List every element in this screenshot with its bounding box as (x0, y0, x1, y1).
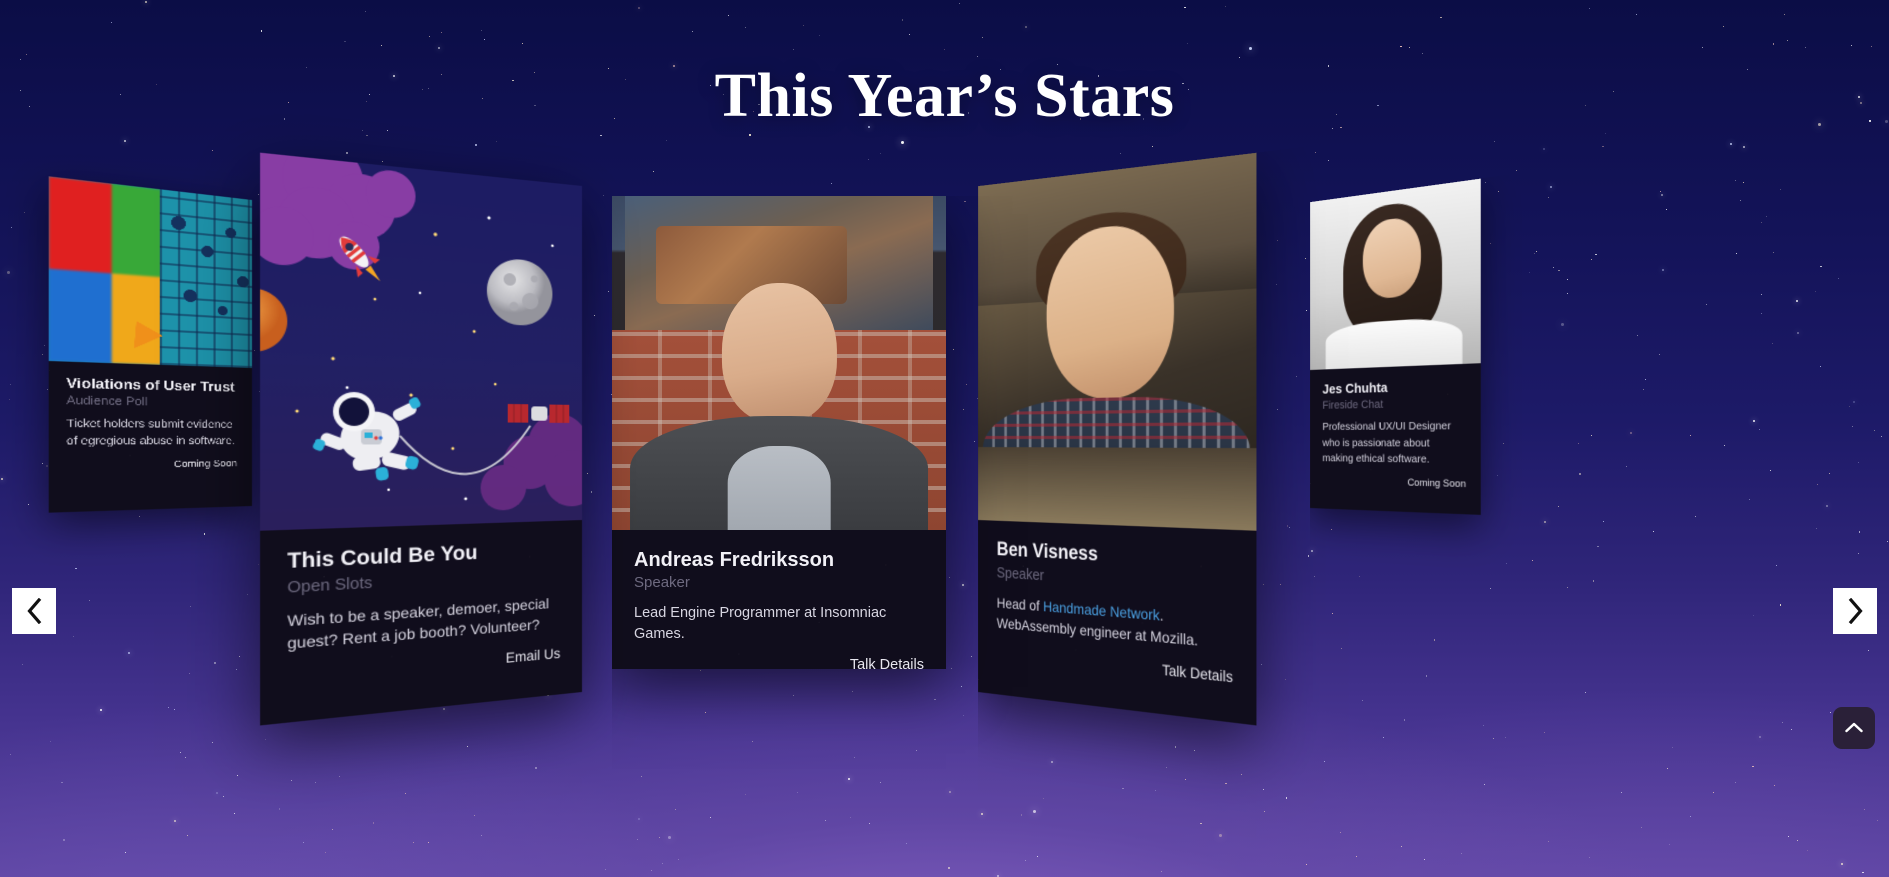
card-description-prefix: Head of (997, 594, 1043, 614)
chevron-up-icon (1845, 721, 1863, 736)
card-body: Jes Chuhta Fireside Chat Professional UX… (1310, 363, 1481, 502)
card-title: Violations of User Trust (66, 375, 237, 396)
card-role: Audience Poll (66, 394, 237, 411)
scroll-to-top-button[interactable] (1833, 707, 1875, 749)
card-description: Lead Engine Programmer at Insomniac Game… (634, 603, 924, 645)
card-media-collage-social-icons-image (49, 176, 252, 368)
carousel-card-ben-visness[interactable]: Ben Visness Speaker Head of Handmade Net… (978, 153, 1256, 726)
card-description: Head of Handmade Network. WebAssembly en… (997, 592, 1233, 655)
card-cta-link[interactable]: Coming Soon (66, 458, 237, 472)
card-cta-link[interactable]: Coming Soon (1322, 475, 1465, 490)
card-role: Speaker (634, 574, 924, 593)
card-body: Ben Visness Speaker Head of Handmade Net… (978, 520, 1256, 706)
card-media-andreas-fredriksson-photo (612, 196, 946, 530)
carousel-next-button[interactable] (1833, 588, 1877, 634)
carousel-card-violations-of-user-trust[interactable]: Violations of User Trust Audience Poll T… (49, 176, 252, 512)
speaker-carousel: Violations of User Trust Audience Poll T… (0, 0, 1889, 877)
card-body: Andreas Fredriksson Speaker Lead Engine … (612, 530, 946, 669)
card-body: Violations of User Trust Audience Poll T… (49, 361, 252, 483)
card-description: Ticket holders submit evidence of egregi… (66, 417, 237, 450)
space-illustration-svg (260, 153, 582, 531)
card-body: This Could Be You Open Slots Wish to be … (260, 520, 582, 706)
card-media-ben-visness-photo (978, 153, 1256, 531)
card-media-space-astronaut-illustration (260, 153, 582, 531)
card-description: Professional UX/UI Designer who is passi… (1322, 419, 1465, 469)
card-media-jes-chuhta-photo (1310, 178, 1481, 370)
carousel-card-andreas-fredriksson[interactable]: Andreas Fredriksson Speaker Lead Engine … (612, 196, 946, 669)
page-title: This Year’s Stars (0, 62, 1889, 131)
card-title: Jes Chuhta (1322, 377, 1465, 397)
card-role: Fireside Chat (1322, 396, 1465, 413)
chevron-left-icon (26, 598, 43, 624)
carousel-prev-button[interactable] (12, 588, 56, 634)
card-title: Andreas Fredriksson (634, 548, 924, 572)
carousel-card-this-could-be-you[interactable]: This Could Be You Open Slots Wish to be … (260, 153, 582, 726)
carousel-card-jes-chuhta[interactable]: Jes Chuhta Fireside Chat Professional UX… (1310, 178, 1481, 514)
card-cta-link[interactable]: Talk Details (634, 657, 924, 669)
chevron-right-icon (1847, 598, 1864, 624)
card-description: Wish to be a speaker, demoer, special gu… (287, 592, 560, 655)
